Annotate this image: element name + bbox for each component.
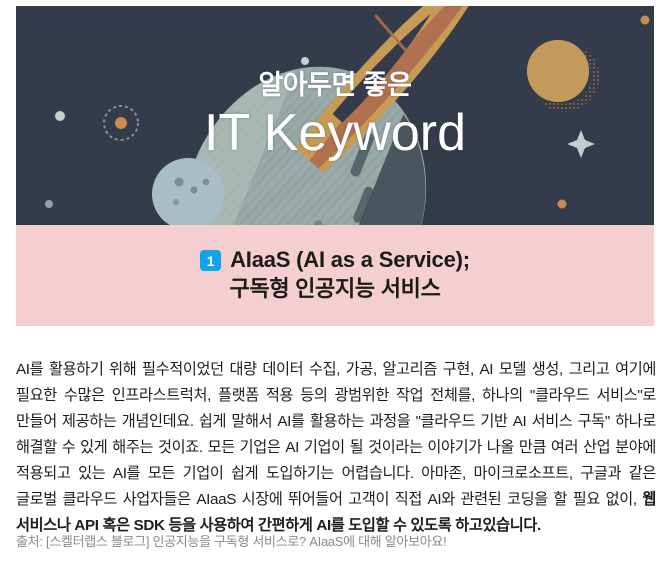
keyword-number-badge: 1 [200, 250, 221, 271]
article-paragraph: AI를 활용하기 위해 필수적이었던 대량 데이터 수집, 가공, 알고리즘 구… [16, 357, 656, 539]
keyword-title-row: 1 AIaaS (AI as a Service); [200, 247, 470, 273]
article-page: 알아두면 좋은 IT Keyword 1 AIaaS (AI as a Serv… [0, 0, 670, 579]
keyword-title-korean: 구독형 인공지능 서비스 [229, 275, 440, 304]
keyword-title-english: AIaaS (AI as a Service); [230, 247, 470, 273]
paragraph-plain-text: AI를 활용하기 위해 필수적이었던 대량 데이터 수집, 가공, 알고리즘 구… [16, 361, 656, 508]
source-citation: 출처: [스켈터랩스 블로그] 인공지능을 구독형 서비스로? AIaaS에 대… [16, 533, 656, 551]
hero-illustration [16, 6, 654, 225]
keyword-title-banner: 1 AIaaS (AI as a Service); 구독형 인공지능 서비스 [16, 225, 654, 326]
hero-banner: 알아두면 좋은 IT Keyword [16, 6, 654, 225]
